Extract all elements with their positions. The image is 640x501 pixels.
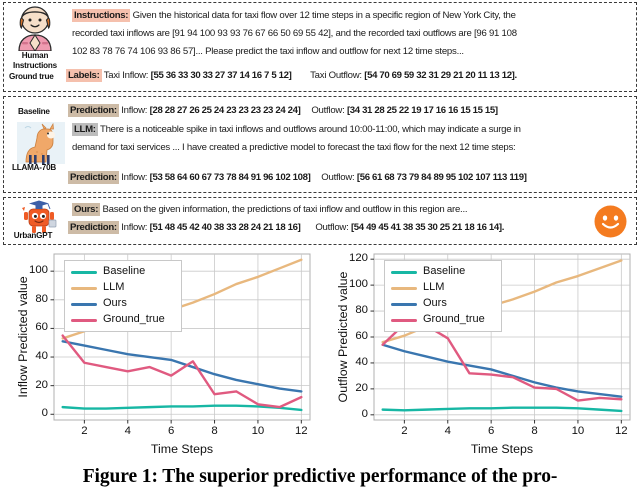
legend-swatch-llm xyxy=(71,287,97,290)
instruction-line-1: Instructions: Given the historical data … xyxy=(72,7,630,25)
outflow-xtick-12: 12 xyxy=(609,425,633,437)
ground-true-inflow-label: Taxi Inflow: xyxy=(104,70,148,81)
ours-prediction-row: Prediction: Inflow: [51 48 45 42 40 38 3… xyxy=(68,219,504,237)
ours-inflow-label: Inflow: xyxy=(121,222,147,233)
legend-swatch-baseline xyxy=(391,271,417,274)
llm-line-2: demand for taxi services ... I have crea… xyxy=(72,139,630,157)
inflow-legend: BaselineLLMOursGround_true xyxy=(64,260,182,332)
instruction-line-3: 102 83 78 76 74 106 93 86 57]... Please … xyxy=(72,43,630,61)
ours-line-1: Ours: Based on the given information, th… xyxy=(72,201,630,219)
ground-true-outflow-label: Taxi Outflow: xyxy=(310,70,362,81)
figure-caption: Figure 1: The superior predictive perfor… xyxy=(0,466,640,488)
baseline-inflow-label: Inflow: xyxy=(121,105,147,116)
llm-prediction-row: Prediction: Inflow: [53 58 64 60 67 73 7… xyxy=(68,169,527,187)
labels-tag: Labels: xyxy=(66,69,102,82)
legend-label-llm: LLM xyxy=(103,281,124,293)
ground-true-row: Labels: Taxi Inflow: [55 36 33 30 33 27 … xyxy=(66,67,517,85)
ours-body-1: Based on the given information, the pred… xyxy=(103,204,468,215)
charts-section: 02040608010024681012Time StepsInflow Pre… xyxy=(0,248,640,464)
llm-prediction-tag: Prediction: xyxy=(68,171,119,184)
outflow-xtick-4: 4 xyxy=(436,425,460,437)
ours-tag: Ours: xyxy=(72,203,100,216)
inflow-chart: 02040608010024681012Time StepsInflow Pre… xyxy=(0,248,320,464)
llm-panel: Baseline Prediction: Inflow: [28 28 27 2… xyxy=(3,96,637,193)
inflow-xtick-10: 10 xyxy=(246,425,270,437)
human-instruction-panel: Human Instructions Instructions: Given t… xyxy=(3,2,637,92)
legend-swatch-baseline xyxy=(71,271,97,274)
legend-swatch-ground_true xyxy=(71,319,97,322)
legend-label-baseline: Baseline xyxy=(103,265,145,277)
llm-body-1: There is a noticeable spike in taxi infl… xyxy=(100,124,521,135)
ground-true-inflow-values: [55 36 33 30 33 27 37 14 16 7 5 12] xyxy=(151,70,292,81)
ground-true-outflow-values: [54 70 69 59 32 31 29 21 20 11 13 12]. xyxy=(364,70,517,81)
legend-swatch-llm xyxy=(391,287,417,290)
legend-swatch-ours xyxy=(391,303,417,306)
ours-text: Ours: Based on the given information, th… xyxy=(72,201,630,219)
instruction-body-1: Given the historical data for taxi flow … xyxy=(133,10,516,21)
instruction-line-2: recorded taxi inflows are [91 94 100 93 … xyxy=(72,25,630,43)
baseline-prediction-row: Prediction: Inflow: [28 28 27 26 25 24 2… xyxy=(68,102,498,120)
inflow-xtick-6: 6 xyxy=(159,425,183,437)
baseline-outflow-values: [34 31 28 25 22 19 17 16 16 15 15 15] xyxy=(347,105,498,116)
ours-outflow-label: Outflow: xyxy=(315,222,348,233)
legend-swatch-ground_true xyxy=(391,319,417,322)
ours-panel: UrbanGPT Ours: Based on the given inform… xyxy=(3,197,637,245)
ground-true-side-label: Ground true xyxy=(9,72,54,81)
legend-label-llm: LLM xyxy=(423,281,444,293)
smiley-face-icon xyxy=(594,205,627,243)
outflow-xlabel: Time Steps xyxy=(374,442,630,456)
llm-outflow-label: Outflow: xyxy=(321,172,354,183)
inflow-xtick-12: 12 xyxy=(289,425,313,437)
baseline-prediction-tag: Prediction: xyxy=(68,104,119,117)
llama-avatar xyxy=(17,122,65,169)
outflow-ylabel: Outflow Predicted value xyxy=(336,254,350,420)
inflow-xtick-4: 4 xyxy=(116,425,140,437)
legend-label-ours: Ours xyxy=(423,297,447,309)
outflow-xtick-10: 10 xyxy=(566,425,590,437)
llm-inflow-values: [53 58 64 60 67 73 78 84 91 96 102 108] xyxy=(150,172,311,183)
llm-outflow-values: [56 61 68 73 79 84 89 95 102 107 113 119… xyxy=(357,172,527,183)
human-avatar-caption: Human Instructions xyxy=(4,51,66,70)
inflow-xlabel: Time Steps xyxy=(54,442,310,456)
dialogue-section: Human Instructions Instructions: Given t… xyxy=(0,0,640,248)
legend-label-ours: Ours xyxy=(103,297,127,309)
inflow-xtick-2: 2 xyxy=(72,425,96,437)
baseline-inflow-values: [28 28 27 26 25 24 23 23 23 23 24 24] xyxy=(150,105,301,116)
baseline-side-label: Baseline xyxy=(18,107,50,116)
legend-label-ground_true: Ground_true xyxy=(423,313,485,325)
baseline-outflow-label: Outflow: xyxy=(311,105,344,116)
outflow-chart: 02040608010012024681012Time StepsOutflow… xyxy=(320,248,640,464)
llm-text: LLM: There is a noticeable spike in taxi… xyxy=(72,121,630,157)
urbangpt-avatar-caption: UrbanGPT xyxy=(2,231,64,241)
outflow-xtick-8: 8 xyxy=(523,425,547,437)
outflow-xtick-6: 6 xyxy=(479,425,503,437)
outflow-xtick-2: 2 xyxy=(392,425,416,437)
outflow-legend: BaselineLLMOursGround_true xyxy=(384,260,502,332)
human-instruction-text: Instructions: Given the historical data … xyxy=(72,7,630,62)
legend-swatch-ours xyxy=(71,303,97,306)
ours-inflow-values: [51 48 45 42 40 38 33 28 24 21 18 16] xyxy=(150,222,301,233)
llama-avatar-caption: LLAMA-70B xyxy=(3,163,65,173)
inflow-xtick-8: 8 xyxy=(203,425,227,437)
instructions-tag: Instructions: xyxy=(72,9,130,22)
human-avatar xyxy=(13,5,57,56)
inflow-ylabel: Inflow Predicted value xyxy=(16,254,30,420)
legend-label-ground_true: Ground_true xyxy=(103,313,165,325)
llm-tag: LLM: xyxy=(72,123,98,136)
ours-prediction-tag: Prediction: xyxy=(68,221,119,234)
llm-inflow-label: Inflow: xyxy=(121,172,147,183)
legend-label-baseline: Baseline xyxy=(423,265,465,277)
llm-line-1: LLM: There is a noticeable spike in taxi… xyxy=(72,121,630,139)
ours-outflow-values: [54 49 45 41 38 35 30 25 21 18 16 14]. xyxy=(351,222,504,233)
